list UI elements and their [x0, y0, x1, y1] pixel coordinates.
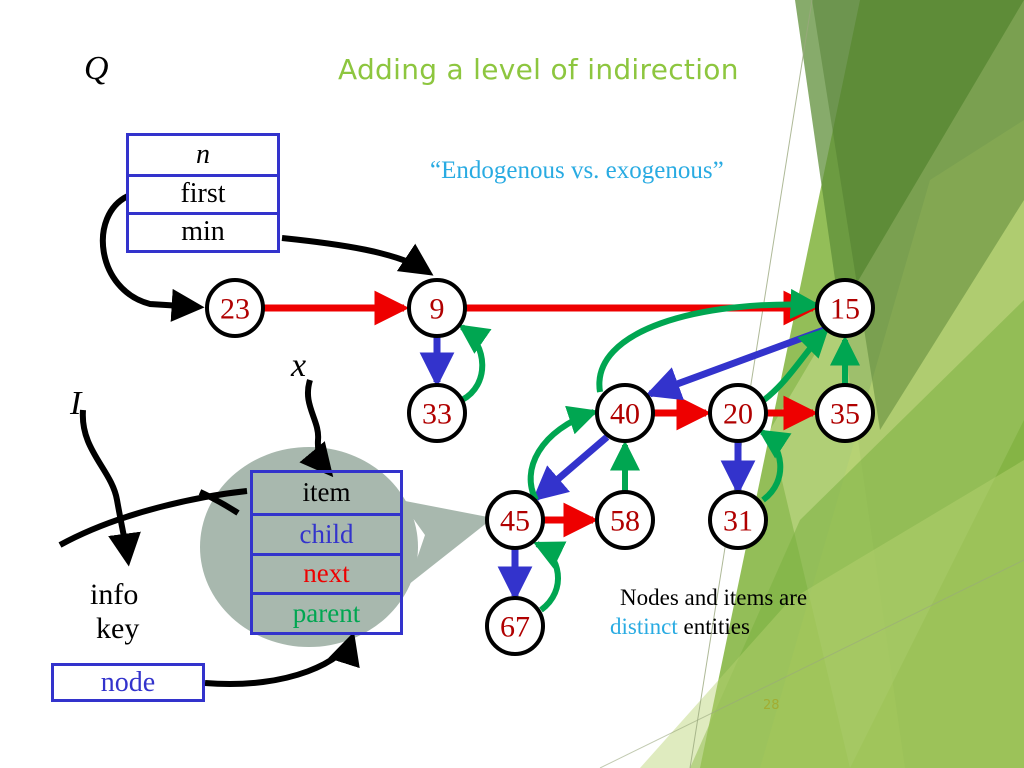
node-label: 15	[830, 293, 860, 326]
q-field-n: n	[129, 136, 277, 174]
node-struct-box[interactable]: node	[51, 663, 205, 702]
caption-line-1: Nodes and items are	[620, 585, 807, 610]
parent-33-9	[462, 327, 482, 400]
node-label: 31	[723, 505, 753, 538]
i-pointer	[83, 410, 128, 560]
caption-line-2: distinct entities	[610, 613, 807, 642]
label-q: Q	[84, 50, 109, 88]
graph-node-20[interactable]: 20	[710, 385, 766, 441]
graph-node-9[interactable]: 9	[409, 280, 465, 336]
graph-node-67[interactable]: 67	[487, 598, 543, 654]
caption-block: Nodes and items are distinct entities	[620, 584, 807, 642]
child-arrows	[437, 330, 824, 596]
node-label: 33	[422, 398, 452, 431]
q-field-first: first	[129, 174, 277, 212]
graph-node-33[interactable]: 33	[409, 385, 465, 441]
caption-line-2-rest: entities	[678, 614, 750, 639]
node-label: 67	[500, 611, 530, 644]
graph-node-23[interactable]: 23	[207, 280, 263, 336]
graph-node-35[interactable]: 35	[817, 385, 873, 441]
label-info: info	[90, 578, 138, 612]
graph-node-58[interactable]: 58	[597, 492, 653, 548]
node-to-item-pointer	[205, 638, 352, 684]
item-field-child: child	[253, 513, 400, 553]
parent-arrows	[462, 304, 845, 610]
parent-67-45	[537, 544, 558, 610]
label-i: I	[70, 385, 81, 423]
q-min-pointer	[282, 238, 428, 272]
slide-number: 28	[763, 698, 780, 713]
graph-node-15[interactable]: 15	[817, 280, 873, 336]
child-40-45	[536, 437, 607, 498]
item-struct-box[interactable]: item child next parent	[250, 470, 403, 635]
node-label: 23	[220, 293, 250, 326]
item-field-parent: parent	[253, 592, 400, 632]
q-struct-box[interactable]: n first min	[126, 133, 280, 253]
subtitle-quote: “Endogenous vs. exogenous”	[430, 157, 724, 185]
label-key: key	[96, 612, 139, 646]
item-field-item: item	[253, 473, 400, 513]
node-graph: 239153340203545583167	[0, 0, 1024, 768]
item-field-next: next	[253, 553, 400, 593]
page-title: Adding a level of indirection	[338, 53, 739, 86]
slide-canvas: 239153340203545583167 n first min item c…	[0, 0, 1024, 768]
graph-node-40[interactable]: 40	[597, 385, 653, 441]
graph-node-31[interactable]: 31	[710, 492, 766, 548]
caption-highlight-word: distinct	[610, 614, 678, 639]
graph-node-45[interactable]: 45	[487, 492, 543, 548]
parent-31-20	[762, 432, 780, 500]
node-label: 9	[430, 293, 445, 326]
q-field-min: min	[129, 212, 277, 250]
node-label: 35	[830, 398, 860, 431]
node-label: 45	[500, 505, 530, 538]
node-label: 40	[610, 398, 640, 431]
node-label: 20	[723, 398, 753, 431]
label-x: x	[291, 347, 306, 385]
x-pointer	[308, 380, 329, 472]
node-label: 58	[610, 505, 640, 538]
